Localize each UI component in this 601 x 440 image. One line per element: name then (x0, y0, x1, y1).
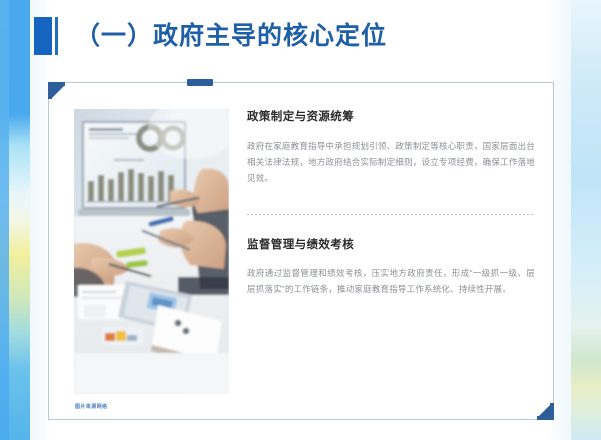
page-title: （一）政府主导的核心定位 (75, 17, 387, 55)
left-gradient-inner (0, 0, 9, 440)
text-column: 政策制定与资源统筹 政府在家庭教育指导中承担规划引领、政策制定等核心职责，国家层… (247, 109, 535, 401)
photo-block: 图片来源网络 (74, 109, 229, 394)
photo-caption: 图片来源网络 (75, 403, 107, 410)
section-divider (247, 214, 535, 215)
section-supervision: 监督管理与绩效考核 政府通过监督管理和绩效考核，压实地方政府责任，形成“一级抓一… (247, 237, 535, 297)
section-heading: 政策制定与资源统筹 (247, 109, 535, 125)
card-corner-bottom-right-icon (537, 403, 554, 420)
section-heading: 监督管理与绩效考核 (247, 237, 535, 253)
card-top-tab-icon (187, 79, 213, 86)
title-accent-marker (34, 17, 58, 55)
section-policy: 政策制定与资源统筹 政府在家庭教育指导中承担规划引领、政策制定等核心职责，国家层… (247, 109, 535, 186)
right-gradient-strip (571, 0, 601, 440)
business-meeting-photo (74, 109, 229, 394)
title-accent-line-icon (55, 17, 58, 55)
section-body: 政府在家庭教育指导中承担规划引领、政策制定等核心职责，国家层面出台相关法律法规，… (247, 138, 535, 186)
slide-title-row: （一）政府主导的核心定位 (34, 16, 387, 56)
content-card: 图片来源网络 政策制定与资源统筹 政府在家庭教育指导中承担规划引领、政策制定等核… (48, 82, 554, 420)
section-body: 政府通过监督管理和绩效考核，压实地方政府责任，形成“一级抓一级、层层抓落实”的工… (247, 265, 535, 297)
title-accent-block-icon (34, 17, 52, 55)
left-gradient-strip (0, 0, 30, 440)
card-corner-top-left-icon (48, 82, 65, 99)
